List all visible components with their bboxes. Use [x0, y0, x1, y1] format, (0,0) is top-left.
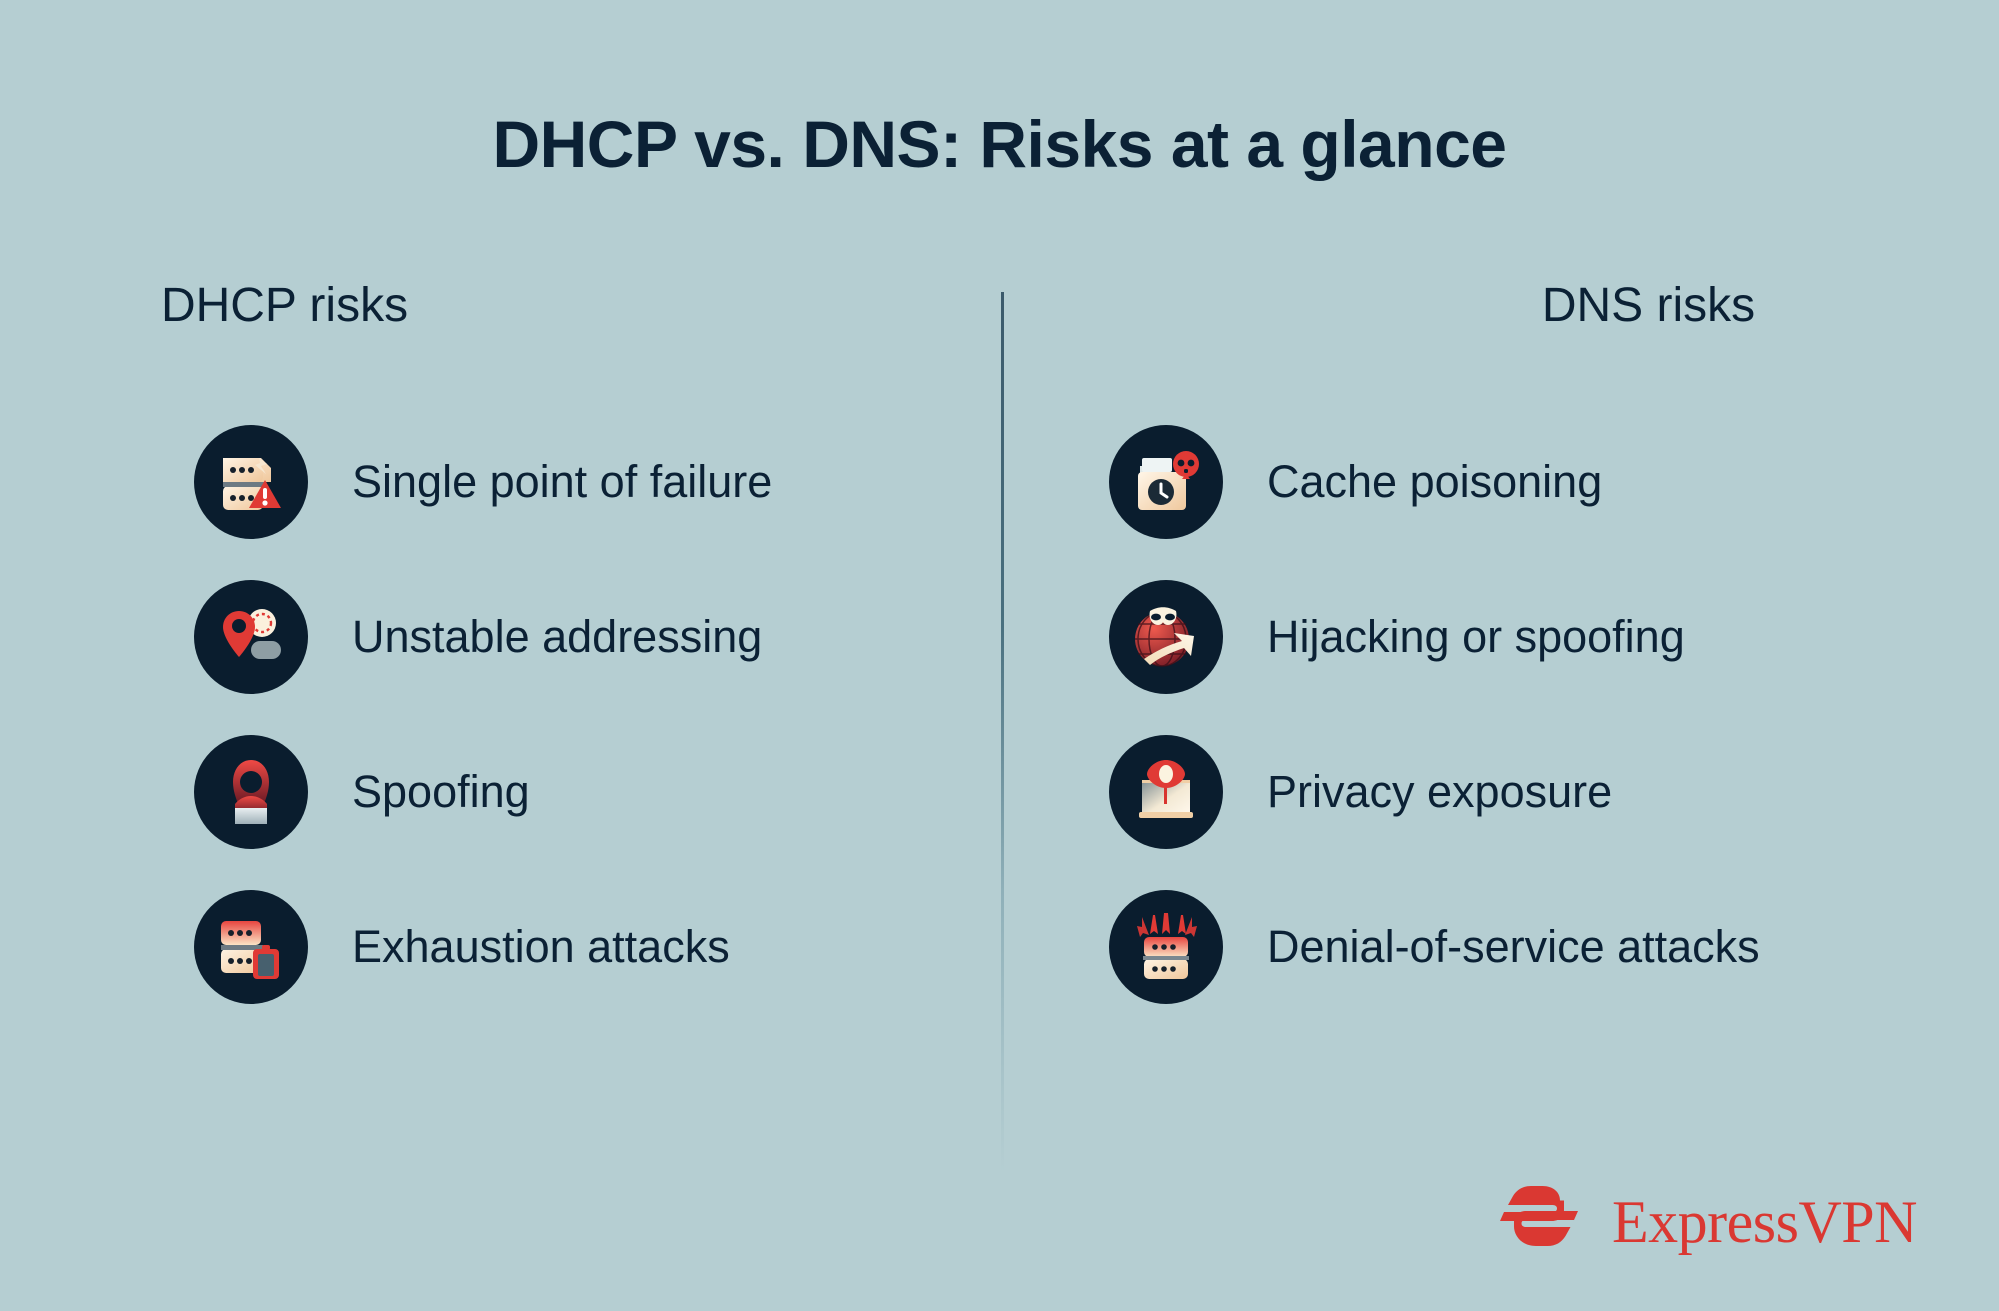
- risk-label: Privacy exposure: [1267, 767, 1612, 817]
- risk-label: Single point of failure: [352, 457, 772, 507]
- dhcp-column-header: DHCP risks: [0, 282, 999, 330]
- brand-logo: ExpressVPN: [1500, 1184, 1917, 1259]
- risk-label: Spoofing: [352, 767, 530, 817]
- dns-risks-column: DNS risks: [999, 282, 1998, 1182]
- risk-label: Unstable addressing: [352, 612, 762, 662]
- server-battery-icon: [194, 890, 308, 1004]
- risk-label: Denial-of-service attacks: [1267, 922, 1760, 972]
- dhcp-risks-column: DHCP risks: [0, 282, 999, 1182]
- list-item: Denial-of-service attacks: [1109, 869, 1999, 1024]
- risk-label: Cache poisoning: [1267, 457, 1602, 507]
- folder-clock-skull-icon: [1109, 425, 1223, 539]
- risk-label: Exhaustion attacks: [352, 922, 730, 972]
- risk-columns: DHCP risks: [0, 282, 1999, 1182]
- globe-mask-icon: [1109, 580, 1223, 694]
- brand-name: ExpressVPN: [1612, 1192, 1917, 1252]
- dns-column-header: DNS risks: [999, 282, 1998, 330]
- list-item: Cache poisoning: [1109, 404, 1999, 559]
- dns-risk-list: Cache poisoning: [1109, 404, 1999, 1024]
- infographic-root: DHCP vs. DNS: Risks at a glance DHCP ris…: [0, 0, 1999, 1311]
- expressvpn-logo-icon: [1500, 1184, 1596, 1259]
- eye-laptop-icon: [1109, 735, 1223, 849]
- list-item: Hijacking or spoofing: [1109, 559, 1999, 714]
- hooded-hacker-icon: [194, 735, 308, 849]
- server-warning-icon: [194, 425, 308, 539]
- page-title: DHCP vs. DNS: Risks at a glance: [0, 108, 1999, 181]
- list-item: Privacy exposure: [1109, 714, 1999, 869]
- server-arrows-icon: [1109, 890, 1223, 1004]
- map-pin-icon: [194, 580, 308, 694]
- risk-label: Hijacking or spoofing: [1267, 612, 1685, 662]
